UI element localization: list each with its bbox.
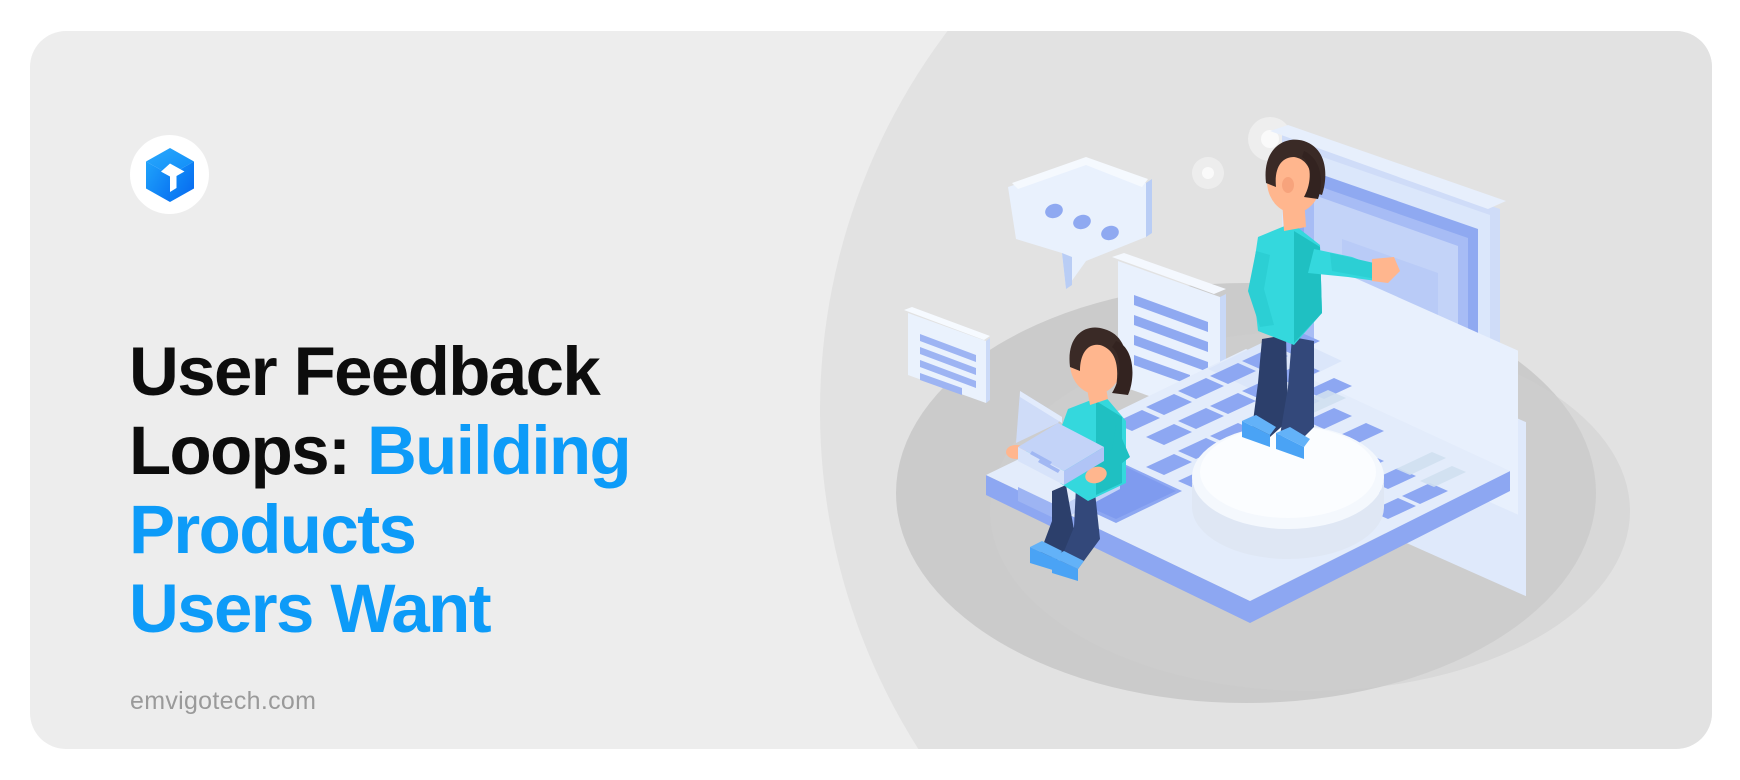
headline-line-2-plain: Loops:: [129, 412, 349, 489]
site-url-label: emvigotech.com: [130, 687, 316, 716]
banner-card: User Feedback Loops: Building Products U…: [30, 31, 1712, 749]
headline-line-3-accent: Users Want: [129, 570, 490, 647]
headline-line-1: User Feedback: [129, 333, 599, 410]
floating-document-card-small: [904, 307, 990, 403]
cube-logo-icon: [145, 147, 195, 203]
isometric-feedback-loop-illustration: [890, 91, 1530, 691]
page-title: User Feedback Loops: Building Products U…: [129, 332, 919, 648]
brand-logo[interactable]: [130, 135, 209, 214]
banner-root: User Feedback Loops: Building Products U…: [0, 0, 1740, 780]
